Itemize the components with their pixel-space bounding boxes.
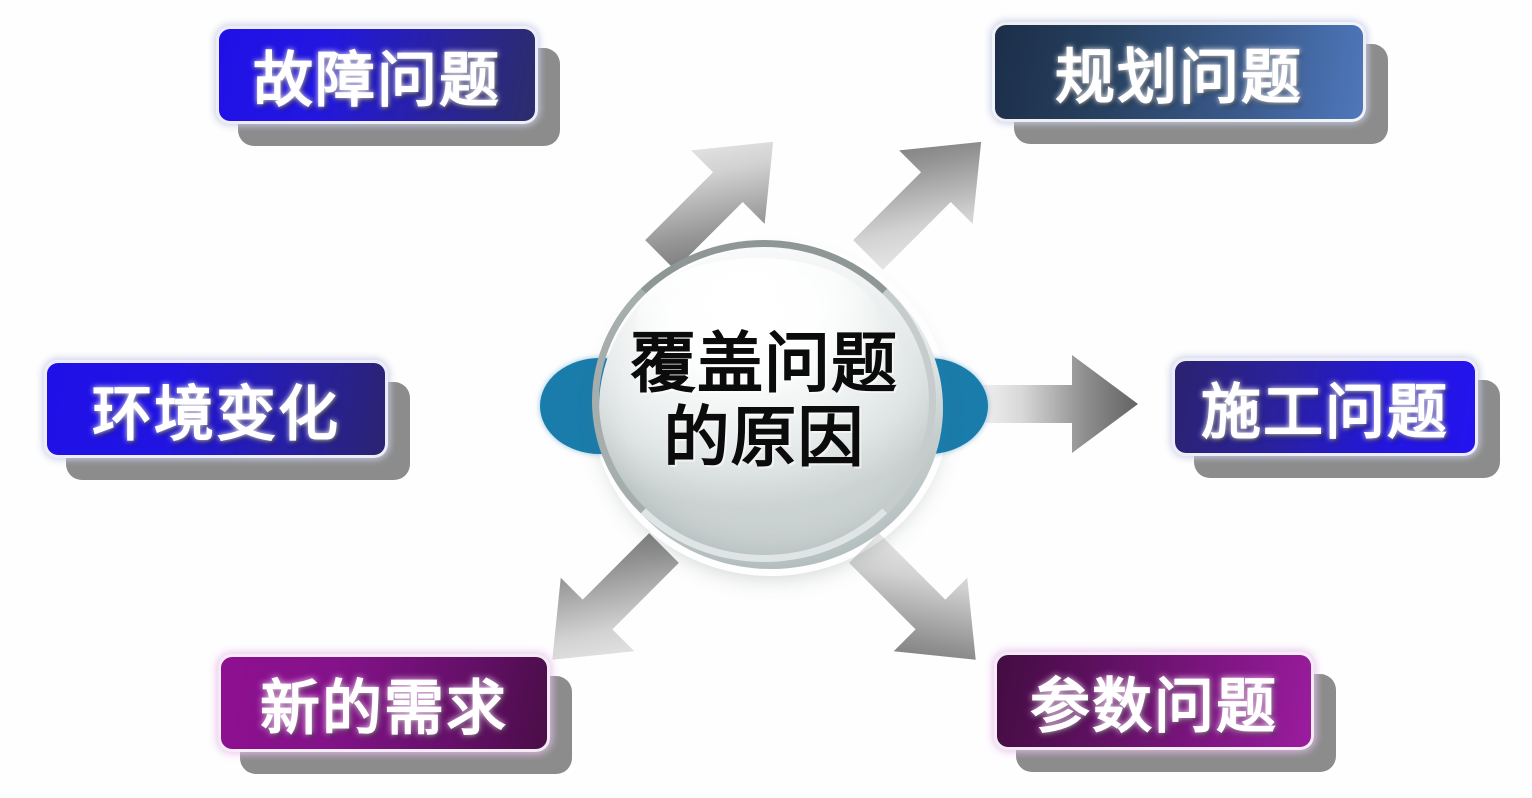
center-hub[interactable]: 覆盖问题 的原因: [578, 240, 950, 562]
node-parameter[interactable]: 参数问题: [994, 652, 1314, 750]
hub-label-line1: 覆盖问题: [630, 329, 898, 399]
hub-label: 覆盖问题 的原因: [592, 240, 936, 562]
node-new-requirement-label: 新的需求: [260, 660, 508, 747]
node-planning-label: 规划问题: [1055, 29, 1303, 116]
hub-label-line2: 的原因: [664, 403, 865, 473]
node-construction[interactable]: 施工问题: [1172, 358, 1478, 456]
node-fault[interactable]: 故障问题: [216, 26, 538, 124]
node-environment-box[interactable]: 环境变化: [44, 360, 388, 458]
node-fault-label: 故障问题: [253, 32, 501, 119]
node-planning-box[interactable]: 规划问题: [992, 22, 1366, 122]
node-construction-box[interactable]: 施工问题: [1172, 358, 1478, 456]
node-construction-label: 施工问题: [1201, 364, 1449, 451]
node-environment[interactable]: 环境变化: [44, 360, 388, 458]
node-new-requirement-box[interactable]: 新的需求: [218, 654, 550, 752]
node-fault-box[interactable]: 故障问题: [216, 26, 538, 124]
node-parameter-box[interactable]: 参数问题: [994, 652, 1314, 750]
arrow-to-construction: [972, 355, 1138, 453]
node-environment-label: 环境变化: [92, 366, 340, 453]
diagram-canvas: 覆盖问题 的原因 故障问题 规划问题 环境变化 施工问题 新的需求: [0, 0, 1532, 798]
node-planning[interactable]: 规划问题: [992, 22, 1366, 122]
node-new-requirement[interactable]: 新的需求: [218, 654, 550, 752]
node-parameter-label: 参数问题: [1030, 658, 1278, 745]
